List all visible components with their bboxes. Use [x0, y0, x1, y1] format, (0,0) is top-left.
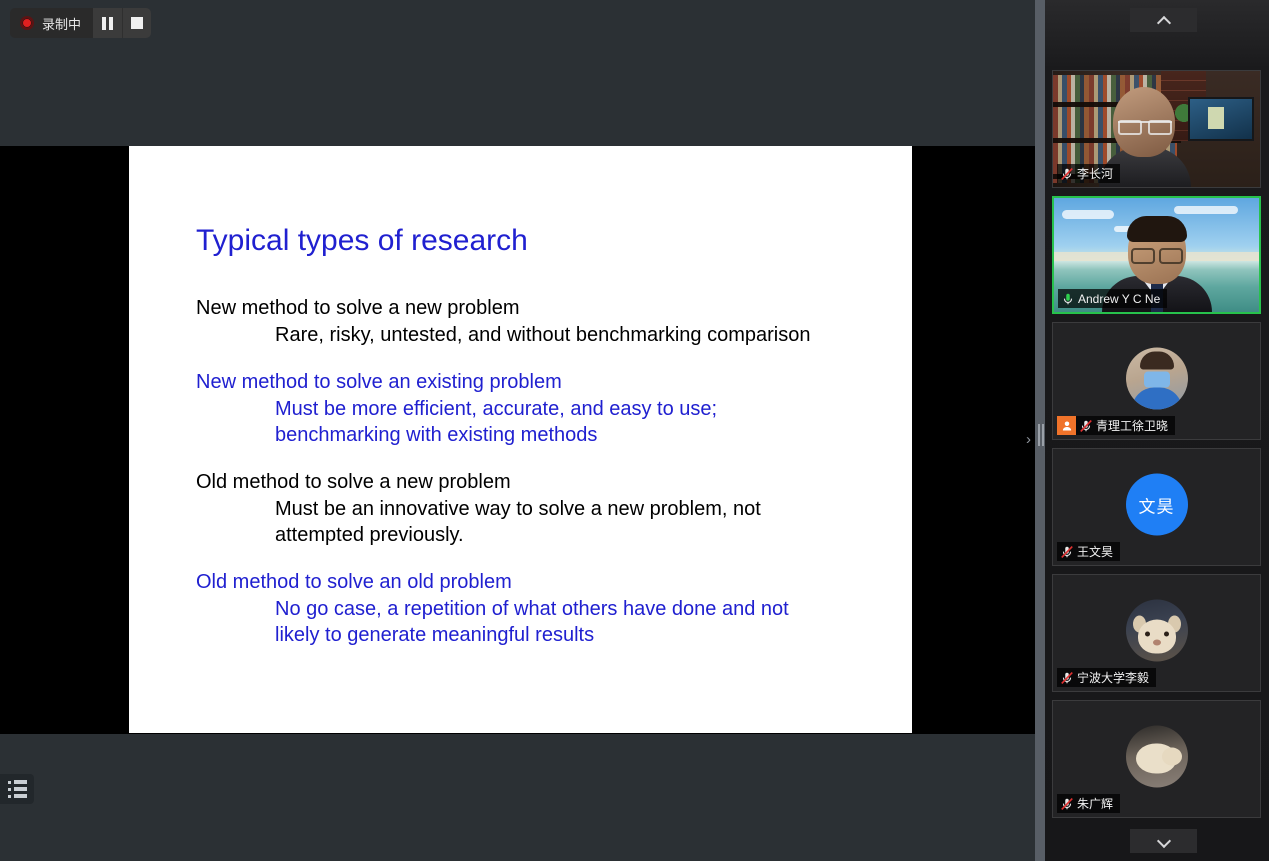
stop-recording-button[interactable] — [122, 8, 151, 38]
participant-tile[interactable]: 朱广辉 — [1052, 700, 1261, 818]
participant-nameplate: Andrew Y C Ne — [1058, 289, 1167, 308]
filmstrip-scroll-down-button[interactable] — [1130, 829, 1197, 853]
chevron-down-icon — [1158, 836, 1169, 847]
participant-name: 青理工徐卫晓 — [1096, 417, 1168, 434]
drag-handle-icon — [1038, 424, 1044, 446]
slide-block-line: Must be an innovative way to solve a new… — [275, 496, 912, 522]
participant-name: 李长河 — [1077, 165, 1113, 182]
participant-filmstrip: 李长河 — [1045, 0, 1269, 861]
recording-status: 录制中 — [10, 8, 93, 38]
pause-recording-button[interactable] — [93, 8, 122, 38]
participant-tile[interactable]: 李长河 — [1052, 70, 1261, 188]
slide-block-line: attempted previously. — [275, 522, 912, 548]
mic-muted-icon — [1076, 416, 1096, 435]
participant-name: 王文昊 — [1077, 543, 1113, 560]
participant-nameplate: 朱广辉 — [1057, 794, 1120, 813]
participant-nameplate: 宁波大学李毅 — [1057, 668, 1156, 687]
avatar-initials: 文昊 — [1139, 492, 1175, 517]
shared-content-stage: Typical types of research New method to … — [0, 0, 1035, 861]
filmstrip-scroll-up-button[interactable] — [1130, 8, 1197, 32]
chevron-up-icon — [1158, 15, 1169, 26]
participant-name: 宁波大学李毅 — [1077, 669, 1149, 686]
host-badge-icon — [1057, 416, 1076, 435]
participant-name: 朱广辉 — [1077, 795, 1113, 812]
slide-title: Typical types of research — [196, 224, 912, 257]
mic-active-icon — [1058, 289, 1078, 308]
slide-block-line: No go case, a repetition of what others … — [275, 596, 912, 622]
slide-block-line: benchmarking with existing methods — [275, 422, 912, 448]
avatar: 文昊 — [1126, 474, 1188, 536]
list-view-icon — [8, 780, 27, 798]
slide-block: Old method to solve a new problem Must b… — [196, 469, 912, 548]
mic-muted-icon — [1057, 164, 1077, 183]
slide-block: New method to solve an existing problem … — [196, 369, 912, 448]
collapse-filmstrip-button[interactable]: › — [1026, 432, 1031, 447]
avatar — [1126, 600, 1188, 662]
slide-block-line: likely to generate meaningful results — [275, 622, 912, 648]
slide-block-heading: Old method to solve a new problem — [196, 469, 912, 496]
avatar — [1126, 348, 1188, 410]
pause-icon — [102, 17, 113, 30]
participant-tile[interactable]: 宁波大学李毅 — [1052, 574, 1261, 692]
participant-tile[interactable]: 文昊 王文昊 — [1052, 448, 1261, 566]
mic-muted-icon — [1057, 794, 1077, 813]
panel-resize-handle[interactable] — [1035, 0, 1045, 861]
meeting-window: Typical types of research New method to … — [0, 0, 1269, 861]
slide-block-line: Must be more efficient, accurate, and ea… — [275, 396, 912, 422]
slide-block: Old method to solve an old problem No go… — [196, 569, 912, 648]
participant-name: Andrew Y C Ne — [1078, 292, 1160, 306]
slide-block-heading: New method to solve an existing problem — [196, 369, 912, 396]
mic-muted-icon — [1057, 542, 1077, 561]
mic-muted-icon — [1057, 668, 1077, 687]
recording-status-label: 录制中 — [42, 14, 81, 33]
slide-block-heading: Old method to solve an old problem — [196, 569, 912, 596]
slide-block-heading: New method to solve a new problem — [196, 295, 912, 322]
participant-nameplate: 李长河 — [1057, 164, 1120, 183]
avatar — [1126, 726, 1188, 788]
panel-list-toggle-button[interactable] — [0, 774, 34, 804]
participant-tile[interactable]: 青理工徐卫晓 — [1052, 322, 1261, 440]
slide-block: New method to solve a new problem Rare, … — [196, 295, 912, 348]
stop-icon — [131, 17, 143, 29]
participant-nameplate: 青理工徐卫晓 — [1057, 416, 1175, 435]
recording-toolbar: 录制中 — [10, 8, 151, 38]
participant-nameplate: 王文昊 — [1057, 542, 1120, 561]
presentation-slide: Typical types of research New method to … — [129, 146, 912, 733]
participant-tile[interactable]: Andrew Y C Ne — [1052, 196, 1261, 314]
record-dot-icon — [20, 16, 34, 30]
slide-block-line: Rare, risky, untested, and without bench… — [275, 322, 912, 348]
